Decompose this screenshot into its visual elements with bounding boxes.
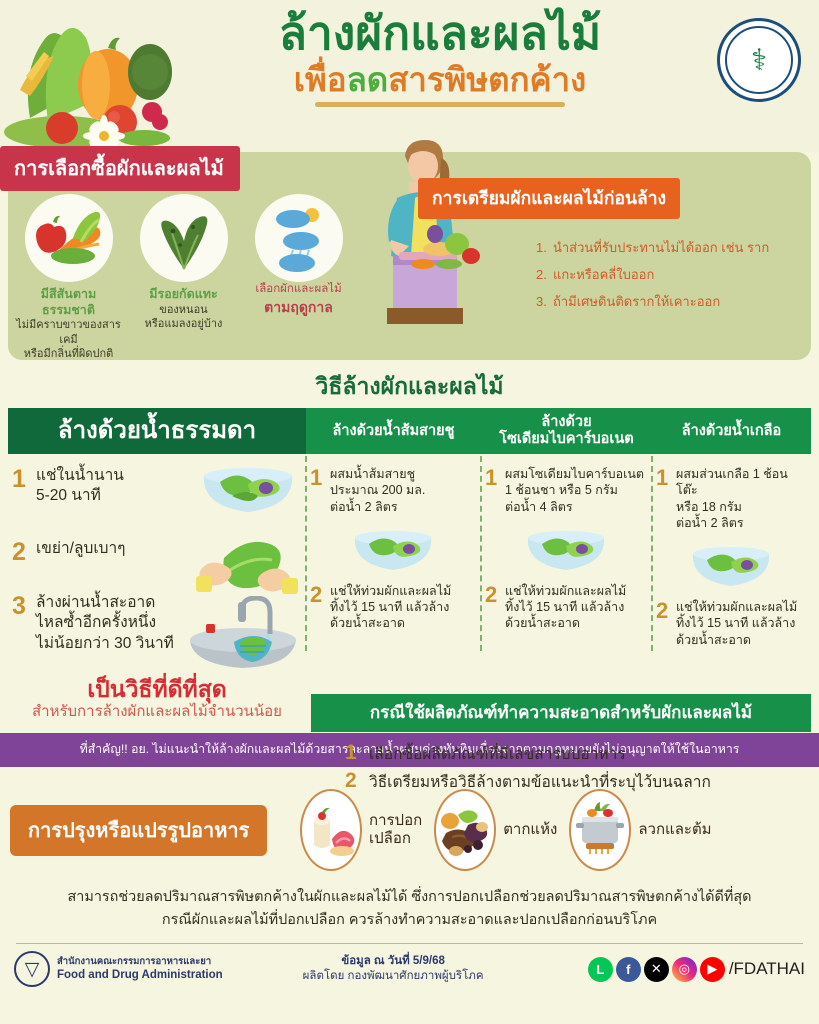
step-text: นำส่วนที่รับประทานไม่ได้ออก เช่น ราก [553,240,769,257]
criteria-title: ตามฤดูกาล [246,297,351,319]
list-item: 1 ผสมส่วนเกลือ 1 ช้อนโต๊ะ หรือ 18 กรัม ต… [656,466,805,531]
step-text: ล้างผ่านน้ำสะอาด ไหลซ้ำอีกครั้งหนึ่ง ไม่… [36,593,174,654]
step-number: 2 [485,583,505,632]
bowl-soaking-vegetables-icon [347,521,439,577]
page-subtitle: เพื่อลดสารพิษตกค้าง [185,59,695,100]
step-text: แช่ให้ท่วมผักและผลไม้ ทิ้งไว้ 15 นาที แล… [330,583,451,632]
page-header: ล้างผักและผลไม้ เพื่อลดสารพิษตกค้าง ⚕ [0,0,819,152]
seal-glyph: ⚕ [725,26,793,94]
organization-name: สำนักงานคณะกรรมการอาหารและยา Food and Dr… [57,956,223,982]
step-text: ผสมโซเดียมไบคาร์บอเนต 1 ช้อนชา หรือ 5 กร… [505,466,644,515]
subtitle-part-3: สารพิษตกค้าง [388,61,586,98]
bowl-soaking-vegetables-icon [685,537,777,593]
title-underline-decoration [315,102,565,107]
list-item: 1 เลือกซื้อผลิตภัณฑ์ที่มีเลขสารบบอาหาร [345,741,811,766]
list-item: 2 แช่ให้ท่วมผักและผลไม้ ทิ้งไว้ 15 นาที … [485,583,646,632]
list-item: เลือกผักและผลไม้ ตามฤดูกาล [246,194,351,361]
subtitle-part-2: ลด [347,61,389,98]
step-number: 1 [485,466,505,515]
data-date: ข้อมูล ณ วันที่ 5/9/68 [303,954,484,970]
kitchen-sink-running-water-icon [184,596,302,679]
dried-foods-icon [434,789,496,871]
list-item: ตากแห้ง [434,789,557,871]
step-number: 1 [345,741,369,766]
list-item: 3. ถ้ามีเศษดินติดรากให้เคาะออก [536,294,816,311]
bowl-soaking-vegetables-icon [520,521,612,577]
organization-name-english: Food and Drug Administration [57,968,223,982]
method-column-sodium-bicarbonate: ล้างด้วย โซเดียมไบคาร์บอเนต 1 ผสมโซเดียม… [481,408,652,721]
step-text: แช่ให้ท่วมผักและผลไม้ ทิ้งไว้ 15 นาที แล… [676,599,797,648]
criteria-detail-1: เลือกผักและผลไม้ [246,282,351,297]
cooking-method-label: ลวกและต้ม [638,821,711,839]
facebook-icon[interactable]: f [616,957,641,982]
fda-thailand-logo-icon: ▽ [14,951,50,987]
cooking-method-label: การปอก เปลือก [369,812,422,848]
column-header-line-2: โซเดียมไบคาร์บอเนต [499,431,633,448]
cooking-description-paragraph: สามารถช่วยลดปริมาณสารพิษตกค้างในผักและผล… [0,886,819,931]
step-number: 3 [12,593,36,654]
produced-by: ผลิตโดย กองพัฒนาศักยภาพผู้บริโภค [303,969,484,985]
step-number: 2 [12,539,36,565]
selection-badge: การเลือกซื้อผักและผลไม้ [0,146,240,191]
criteria-detail-1: ของหนอน [131,303,236,317]
step-text: แกะหรือคลี่ใบออก [553,267,654,284]
steps-list: 1 แช่ในน้ำนาน 5-20 นาที 2 เขย่า/ลูบเบาๆ [8,454,306,654]
steps-list: 1 ผสมน้ำส้มสายชู ประมาณ 200 มล. ต่อน้ำ 2… [306,454,481,632]
step-text: แช่ในน้ำนาน 5-20 นาที [36,466,124,507]
leafy-green-icon [140,194,228,282]
step-text: เลือกซื้อผลิตภัณฑ์ที่มีเลขสารบบอาหาร [369,741,626,766]
criteria-detail-1: ไม่มีคราบขาวของสารเคมี [16,318,121,347]
instagram-icon[interactable]: ◎ [672,957,697,982]
step-number: 2. [536,267,553,284]
social-media-links[interactable]: L f ✕ ◎ ▶ /FDATHAI [588,957,805,982]
step-number: 1 [310,466,330,515]
subtitle-part-1: เพื่อ [294,61,347,98]
best-method-callout: เป็นวิธีที่ดีที่สุด สำหรับการล้างผักและผ… [8,676,306,721]
steps-list: 1 ผสมส่วนเกลือ 1 ช้อนโต๊ะ หรือ 18 กรัม ต… [652,454,811,648]
paragraph-line-1: สามารถช่วยลดปริมาณสารพิษตกค้างในผักและผล… [10,886,809,908]
method-column-plain-water: ล้างด้วยน้ำธรรมดา 1 แช่ในน้ำนาน 5-20 นาท… [8,408,306,721]
step-number: 1 [656,466,676,531]
youtube-icon[interactable]: ▶ [700,957,725,982]
step-number: 1. [536,240,553,257]
cooking-method-label: ตากแห้ง [503,821,557,839]
criteria-detail-2: หรือแมลงอยู่บ้าง [131,317,236,331]
list-item: 1. นำส่วนที่รับประทานไม่ได้ออก เช่น ราก [536,240,816,257]
best-method-subtext: สำหรับการล้างผักและผลไม้จำนวนน้อย [8,703,306,722]
cooking-processing-section: การปรุงหรือแปรรูปอาหาร การปอก เปลือก [0,781,819,886]
criteria-title: มีสีสันตามธรรมชาติ [16,287,121,318]
page-footer: ▽ สำนักงานคณะกรรมการอาหารและยา Food and … [0,944,819,987]
step-text: ผสมส่วนเกลือ 1 ช้อนโต๊ะ หรือ 18 กรัม ต่อ… [676,466,805,531]
column-header: ล้างด้วยน้ำเกลือ [652,408,811,454]
selection-criteria-list: มีสีสันตามธรรมชาติ ไม่มีคราบขาวของสารเคม… [16,194,351,361]
step-number: 2 [310,583,330,632]
step-text: ถ้ามีเศษดินติดรากให้เคาะออก [553,294,720,311]
woman-cutting-vegetables-illustration [353,136,503,321]
x-twitter-icon[interactable]: ✕ [644,957,669,982]
best-method-headline: เป็นวิธีที่ดีที่สุด [8,676,306,702]
washing-methods-columns: ล้างด้วยน้ำธรรมดา 1 แช่ในน้ำนาน 5-20 นาท… [0,408,819,721]
vegetables-basket-image [0,0,200,152]
list-item: 2 แช่ให้ท่วมผักและผลไม้ ทิ้งไว้ 15 นาที … [656,599,805,648]
weather-seasons-icon [255,194,343,282]
selection-and-preparation-section: การเลือกซื้อผักและผลไม้ มีสีสันตามธรรมชา… [8,152,811,360]
boiling-pot-icon [569,789,631,871]
method-column-salt-water: ล้างด้วยน้ำเกลือ 1 ผสมส่วนเกลือ 1 ช้อนโต… [652,408,811,721]
step-text: แช่ให้ท่วมผักและผลไม้ ทิ้งไว้ 15 นาที แล… [505,583,626,632]
ministry-of-public-health-seal-icon: ⚕ [717,18,801,102]
method-column-vinegar: ล้างด้วยน้ำส้มสายชู 1 ผสมน้ำส้มสายชู ประ… [306,408,481,721]
peeled-fruit-dessert-icon [300,789,362,871]
list-item: 1 ผสมน้ำส้มสายชู ประมาณ 200 มล. ต่อน้ำ 2… [310,466,475,515]
list-item: 1 ผสมโซเดียมไบคาร์บอเนต 1 ช้อนชา หรือ 5 … [485,466,646,515]
list-item: มีรอยกัดแทะ ของหนอน หรือแมลงอยู่บ้าง [131,194,236,361]
step-number: 2 [656,599,676,648]
preparation-steps-list: 1. นำส่วนที่รับประทานไม่ได้ออก เช่น ราก … [536,240,816,321]
list-item: ลวกและต้ม [569,789,711,871]
colorful-vegetables-icon [25,194,113,282]
step-text: ผสมน้ำส้มสายชู ประมาณ 200 มล. ต่อน้ำ 2 ล… [330,466,425,515]
bowl-soaking-vegetables-icon [194,458,302,525]
cooking-methods-list: การปอก เปลือก ตากแห้ง [300,789,712,871]
social-handle[interactable]: /FDATHAI [729,959,805,979]
product-banner-header: กรณีใช้ผลิตภัณฑ์ทำความสะอาดสำหรับผักและผ… [311,694,811,732]
criteria-title: มีรอยกัดแทะ [131,287,236,303]
list-item: 2. แกะหรือคลี่ใบออก [536,267,816,284]
criteria-detail-2: หรือมีกลิ่นที่ผิดปกติ [16,347,121,361]
list-item: การปอก เปลือก [300,789,422,871]
line-icon[interactable]: L [588,957,613,982]
paragraph-line-2: กรณีผักและผลไม้ที่ปอกเปลือก ควรล้างทำควา… [10,909,809,931]
page-title: ล้างผักและผลไม้ [185,8,695,59]
list-item: 2 แช่ให้ท่วมผักและผลไม้ ทิ้งไว้ 15 นาที … [310,583,475,632]
cooking-badge: การปรุงหรือแปรรูปอาหาร [10,805,267,856]
organization-name-thai: สำนักงานคณะกรรมการอาหารและยา [57,956,223,968]
steps-list: 1 ผสมโซเดียมไบคาร์บอเนต 1 ช้อนชา หรือ 5 … [481,454,652,632]
header-title-block: ล้างผักและผลไม้ เพื่อลดสารพิษตกค้าง [185,8,695,107]
step-number: 1 [12,466,36,507]
step-number: 3. [536,294,553,311]
footer-meta: ข้อมูล ณ วันที่ 5/9/68 ผลิตโดย กองพัฒนาศ… [303,954,484,985]
methods-section-title: วิธีล้างผักและผลไม้ [0,369,819,405]
list-item: มีสีสันตามธรรมชาติ ไม่มีคราบขาวของสารเคม… [16,194,121,361]
column-header: ล้างด้วย โซเดียมไบคาร์บอเนต [481,408,652,454]
column-header: ล้างด้วยน้ำธรรมดา [8,408,306,454]
column-header-line-1: ล้างด้วย [499,414,633,431]
column-header: ล้างด้วยน้ำส้มสายชู [306,408,481,454]
preparation-badge: การเตรียมผักและผลไม้ก่อนล้าง [418,178,680,219]
step-text: เขย่า/ลูบเบาๆ [36,539,126,565]
